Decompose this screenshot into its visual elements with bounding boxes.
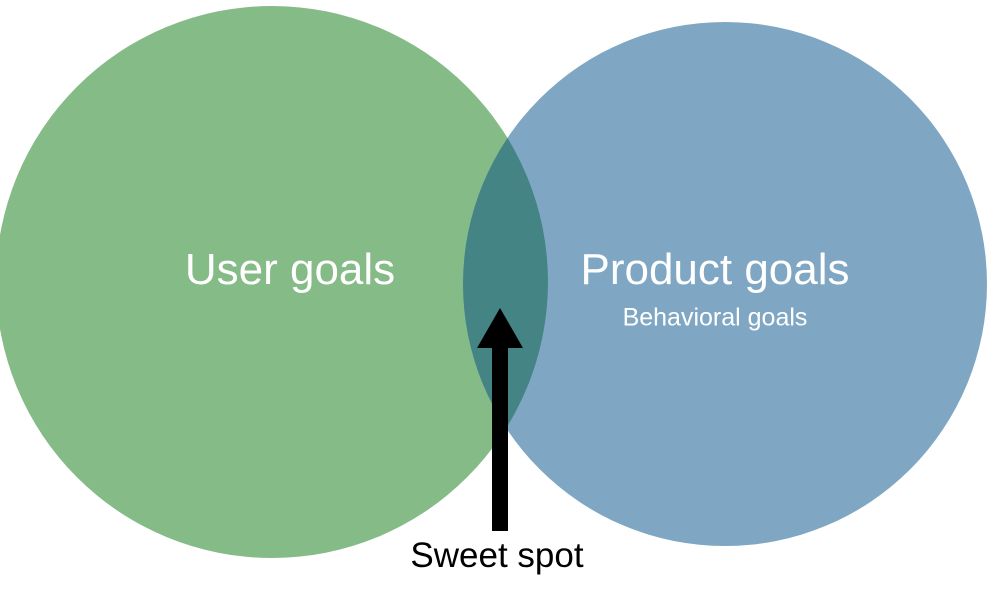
venn-shapes: [0, 0, 1000, 590]
venn-diagram: User goals Product goals Behavioral goal…: [0, 0, 1000, 590]
